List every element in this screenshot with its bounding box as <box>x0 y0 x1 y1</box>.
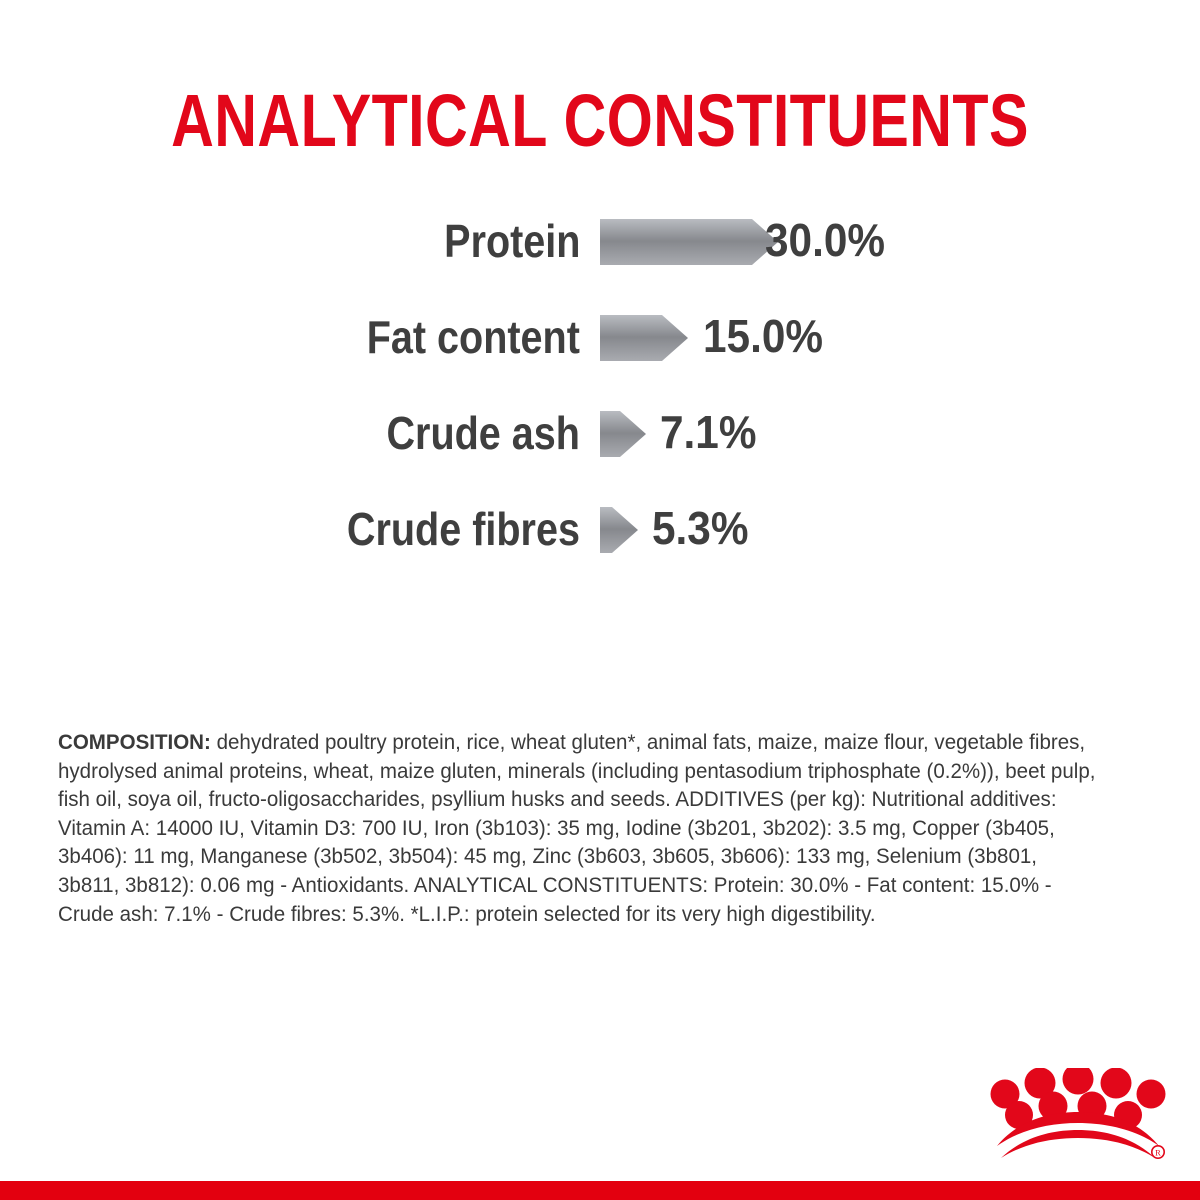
bar-arrow-icon <box>600 218 778 266</box>
constituent-row: Protein 30.0% <box>0 210 1200 306</box>
constituent-row: Crude fibres 5.3% <box>0 498 1200 594</box>
bar-arrow-icon <box>600 314 688 362</box>
constituent-label-crude-ash: Crude ash <box>387 402 580 464</box>
bar-arrow-icon <box>600 506 638 554</box>
royal-canin-crown-logo: R <box>988 1068 1168 1164</box>
bottom-accent-bar <box>0 1181 1200 1200</box>
crown-logo-icon: R <box>988 1068 1168 1164</box>
composition-paragraph: COMPOSITION: dehydrated poultry protein,… <box>58 728 1101 928</box>
composition-heading: COMPOSITION: <box>58 730 211 754</box>
constituent-bar-crude-fibres <box>600 506 638 554</box>
page-title: ANALYTICAL CONSTITUENTS <box>120 80 1080 162</box>
constituent-label-fat-content: Fat content <box>367 306 580 368</box>
constituent-bar-crude-ash <box>600 410 646 458</box>
constituent-value-fat-content: 15.0% <box>703 306 823 368</box>
registered-trademark-symbol: R <box>1155 1148 1161 1158</box>
constituent-row: Fat content 15.0% <box>0 306 1200 402</box>
constituent-row: Crude ash 7.1% <box>0 402 1200 498</box>
constituent-bar-fat-content <box>600 314 688 362</box>
composition-body: dehydrated poultry protein, rice, wheat … <box>58 730 1095 926</box>
page-root: ANALYTICAL CONSTITUENTS Protein <box>0 0 1200 1200</box>
constituent-value-protein: 30.0% <box>765 210 885 272</box>
constituent-value-crude-fibres: 5.3% <box>652 498 748 560</box>
constituent-label-crude-fibres: Crude fibres <box>347 498 580 560</box>
analytical-constituents-chart: Protein 30.0% <box>0 210 1200 594</box>
constituent-label-protein: Protein <box>444 210 580 272</box>
constituent-value-crude-ash: 7.1% <box>660 402 756 464</box>
constituent-bar-protein <box>600 218 778 266</box>
bar-arrow-icon <box>600 410 646 458</box>
